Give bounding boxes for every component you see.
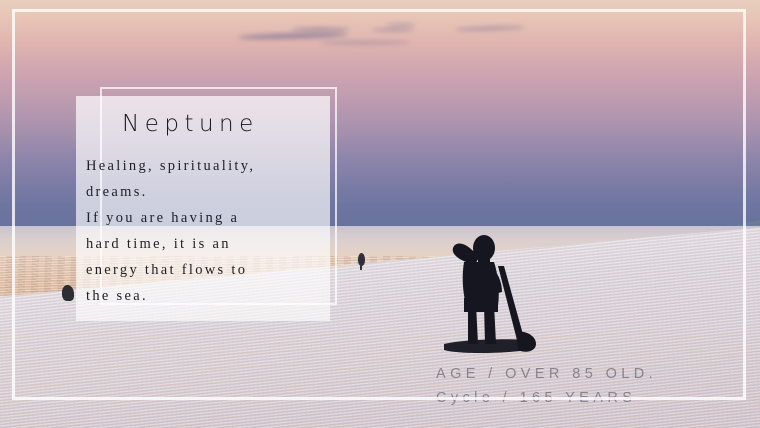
caption-cycle-line: Cycle / 165 YEARS: [436, 386, 736, 410]
bird-silhouette: [358, 253, 365, 266]
card-body-line: If you are having a: [86, 205, 326, 231]
caption-block: AGE / OVER 85 OLD. Cycle / 165 YEARS: [436, 362, 736, 410]
card-body-line: dreams.: [86, 179, 326, 205]
cloud-streak: [372, 28, 414, 32]
cloud-streak: [386, 23, 416, 27]
cloud-streak: [320, 40, 410, 45]
card-body-text: Healing, spirituality, dreams. If you ar…: [86, 153, 326, 309]
card-body-line: energy that flows to: [86, 257, 326, 283]
rock-silhouette: [62, 285, 74, 301]
caption-age-line: AGE / OVER 85 OLD.: [436, 362, 736, 386]
card-body-line: the sea.: [86, 283, 326, 309]
poster-canvas: Neptune Healing, spirituality, dreams. I…: [0, 0, 760, 428]
page-title: Neptune: [122, 111, 259, 137]
card-body-line: hard time, it is an: [86, 231, 326, 257]
card-body-line: Healing, spirituality,: [86, 153, 326, 179]
info-card: Neptune Healing, spirituality, dreams. I…: [76, 96, 330, 321]
paddleboarder-silhouette: [440, 232, 550, 360]
cloud-streak: [292, 27, 350, 32]
